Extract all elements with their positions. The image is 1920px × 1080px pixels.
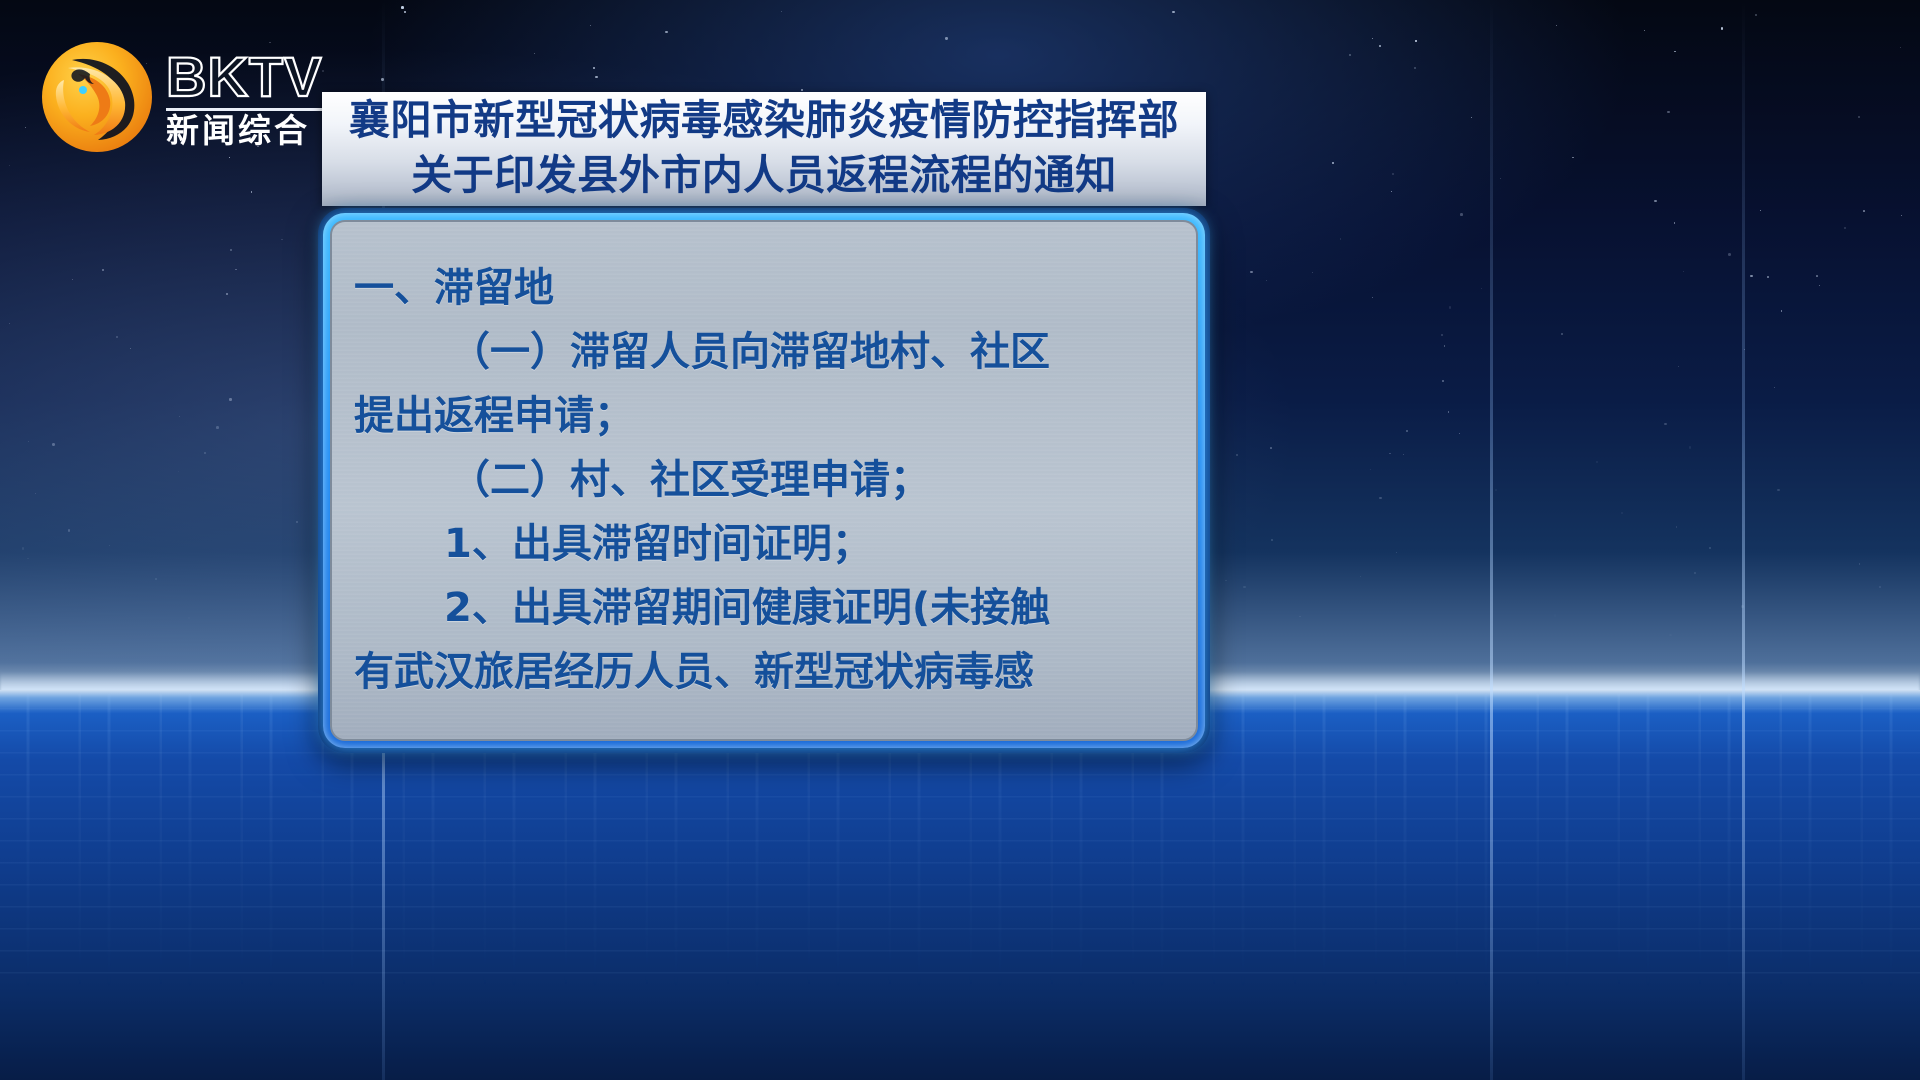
content-line: 提出返程申请； (354, 384, 1174, 448)
content-line: 有武汉旅居经历人员、新型冠状病毒感 (354, 640, 1174, 704)
phoenix-logo-icon (38, 38, 156, 156)
content-line: 1、出具滞留时间证明； (354, 512, 1174, 576)
content-panel-frame: 一、滞留地（一）滞留人员向滞留地村、社区提出返程申请；（二）村、社区受理申请；1… (318, 208, 1210, 753)
channel-callsign: BKTV (166, 50, 322, 104)
content-panel-body: 一、滞留地（一）滞留人员向滞留地村、社区提出返程申请；（二）村、社区受理申请；1… (330, 220, 1198, 741)
light-beam (1490, 0, 1493, 1080)
content-line: 一、滞留地 (354, 256, 1174, 320)
content-line: 2、出具滞留期间健康证明(未接触 (354, 576, 1174, 640)
content-line: （二）村、社区受理申请； (354, 448, 1174, 512)
title-line-2: 关于印发县外市内人员返程流程的通知 (411, 148, 1117, 203)
broadcast-stage: BKTV 新闻综合 襄阳市新型冠状病毒感染肺炎疫情防控指挥部 关于印发县外市内人… (0, 0, 1920, 1080)
content-panel-glow-border: 一、滞留地（一）滞留人员向滞留地村、社区提出返程申请；（二）村、社区受理申请；1… (323, 213, 1205, 748)
news-title-banner: 襄阳市新型冠状病毒感染肺炎疫情防控指挥部 关于印发县外市内人员返程流程的通知 (322, 92, 1206, 206)
channel-logo: BKTV 新闻综合 (38, 32, 328, 162)
channel-logo-text: BKTV 新闻综合 (166, 46, 322, 148)
light-beam (1742, 0, 1745, 1080)
channel-subname: 新闻综合 (166, 114, 322, 149)
title-line-1: 襄阳市新型冠状病毒感染肺炎疫情防控指挥部 (349, 93, 1179, 148)
content-line: （一）滞留人员向滞留地村、社区 (354, 320, 1174, 384)
